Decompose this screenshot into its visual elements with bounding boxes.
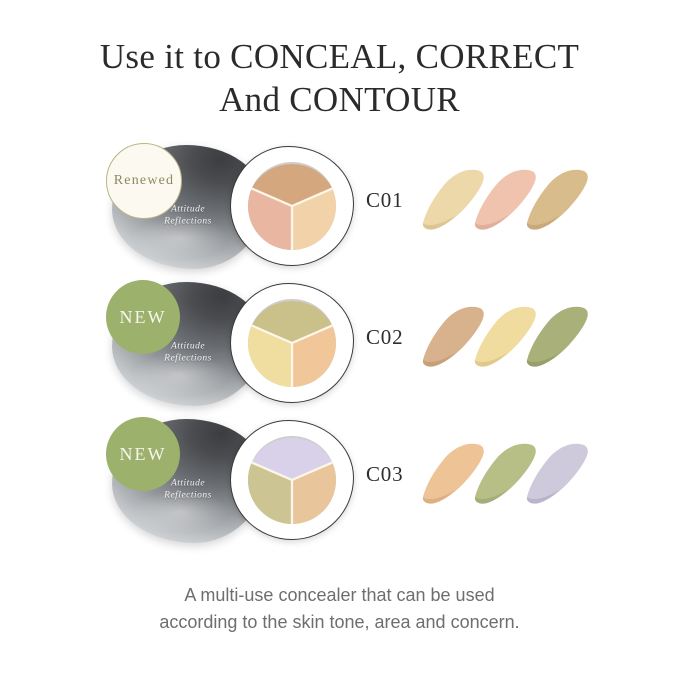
palette-pan bbox=[248, 436, 336, 524]
palette-wedges bbox=[248, 162, 336, 250]
shade-code: C01 bbox=[366, 188, 426, 213]
swatch bbox=[418, 300, 496, 374]
palette-pan bbox=[248, 162, 336, 250]
brand-logo: Attitude Reflections bbox=[164, 477, 212, 502]
product-row: Attitude Reflections NEW bbox=[0, 407, 679, 547]
shade-code: C02 bbox=[366, 325, 426, 350]
palette-case bbox=[230, 283, 354, 403]
product-row: Attitude Reflections NEW bbox=[0, 270, 679, 410]
headline-line-2: And CONTOUR bbox=[0, 79, 679, 122]
shade-code: C03 bbox=[366, 462, 426, 487]
brand-line-2: Reflections bbox=[164, 216, 212, 229]
caption-line-2: according to the skin tone, area and con… bbox=[0, 609, 679, 636]
headline-line-1: Use it to CONCEAL, CORRECT bbox=[0, 36, 679, 79]
palette-case bbox=[230, 420, 354, 540]
brand-line-2: Reflections bbox=[164, 490, 212, 503]
caption-line-1: A multi-use concealer that can be used bbox=[0, 582, 679, 609]
palette-pan bbox=[248, 299, 336, 387]
brand-line-2: Reflections bbox=[164, 353, 212, 366]
palette-wedges bbox=[248, 299, 336, 387]
swatch bbox=[418, 163, 496, 237]
new-badge: NEW bbox=[106, 417, 180, 491]
new-badge: NEW bbox=[106, 280, 180, 354]
swatch bbox=[418, 437, 496, 511]
product-row: Attitude Reflections Renewed bbox=[0, 133, 679, 273]
palette-case bbox=[230, 146, 354, 266]
renewed-badge: Renewed bbox=[106, 143, 182, 219]
product-row-list: Attitude Reflections Renewed bbox=[0, 133, 679, 563]
brand-line-1: Attitude bbox=[164, 340, 212, 353]
swatch-group bbox=[418, 292, 618, 396]
swatch-group bbox=[418, 429, 618, 533]
swatch-group bbox=[418, 155, 618, 259]
product-description: A multi-use concealer that can be used a… bbox=[0, 582, 679, 637]
brand-line-1: Attitude bbox=[164, 477, 212, 490]
palette-wedges bbox=[248, 436, 336, 524]
brand-logo: Attitude Reflections bbox=[164, 340, 212, 365]
page-title: Use it to CONCEAL, CORRECT And CONTOUR bbox=[0, 36, 679, 121]
